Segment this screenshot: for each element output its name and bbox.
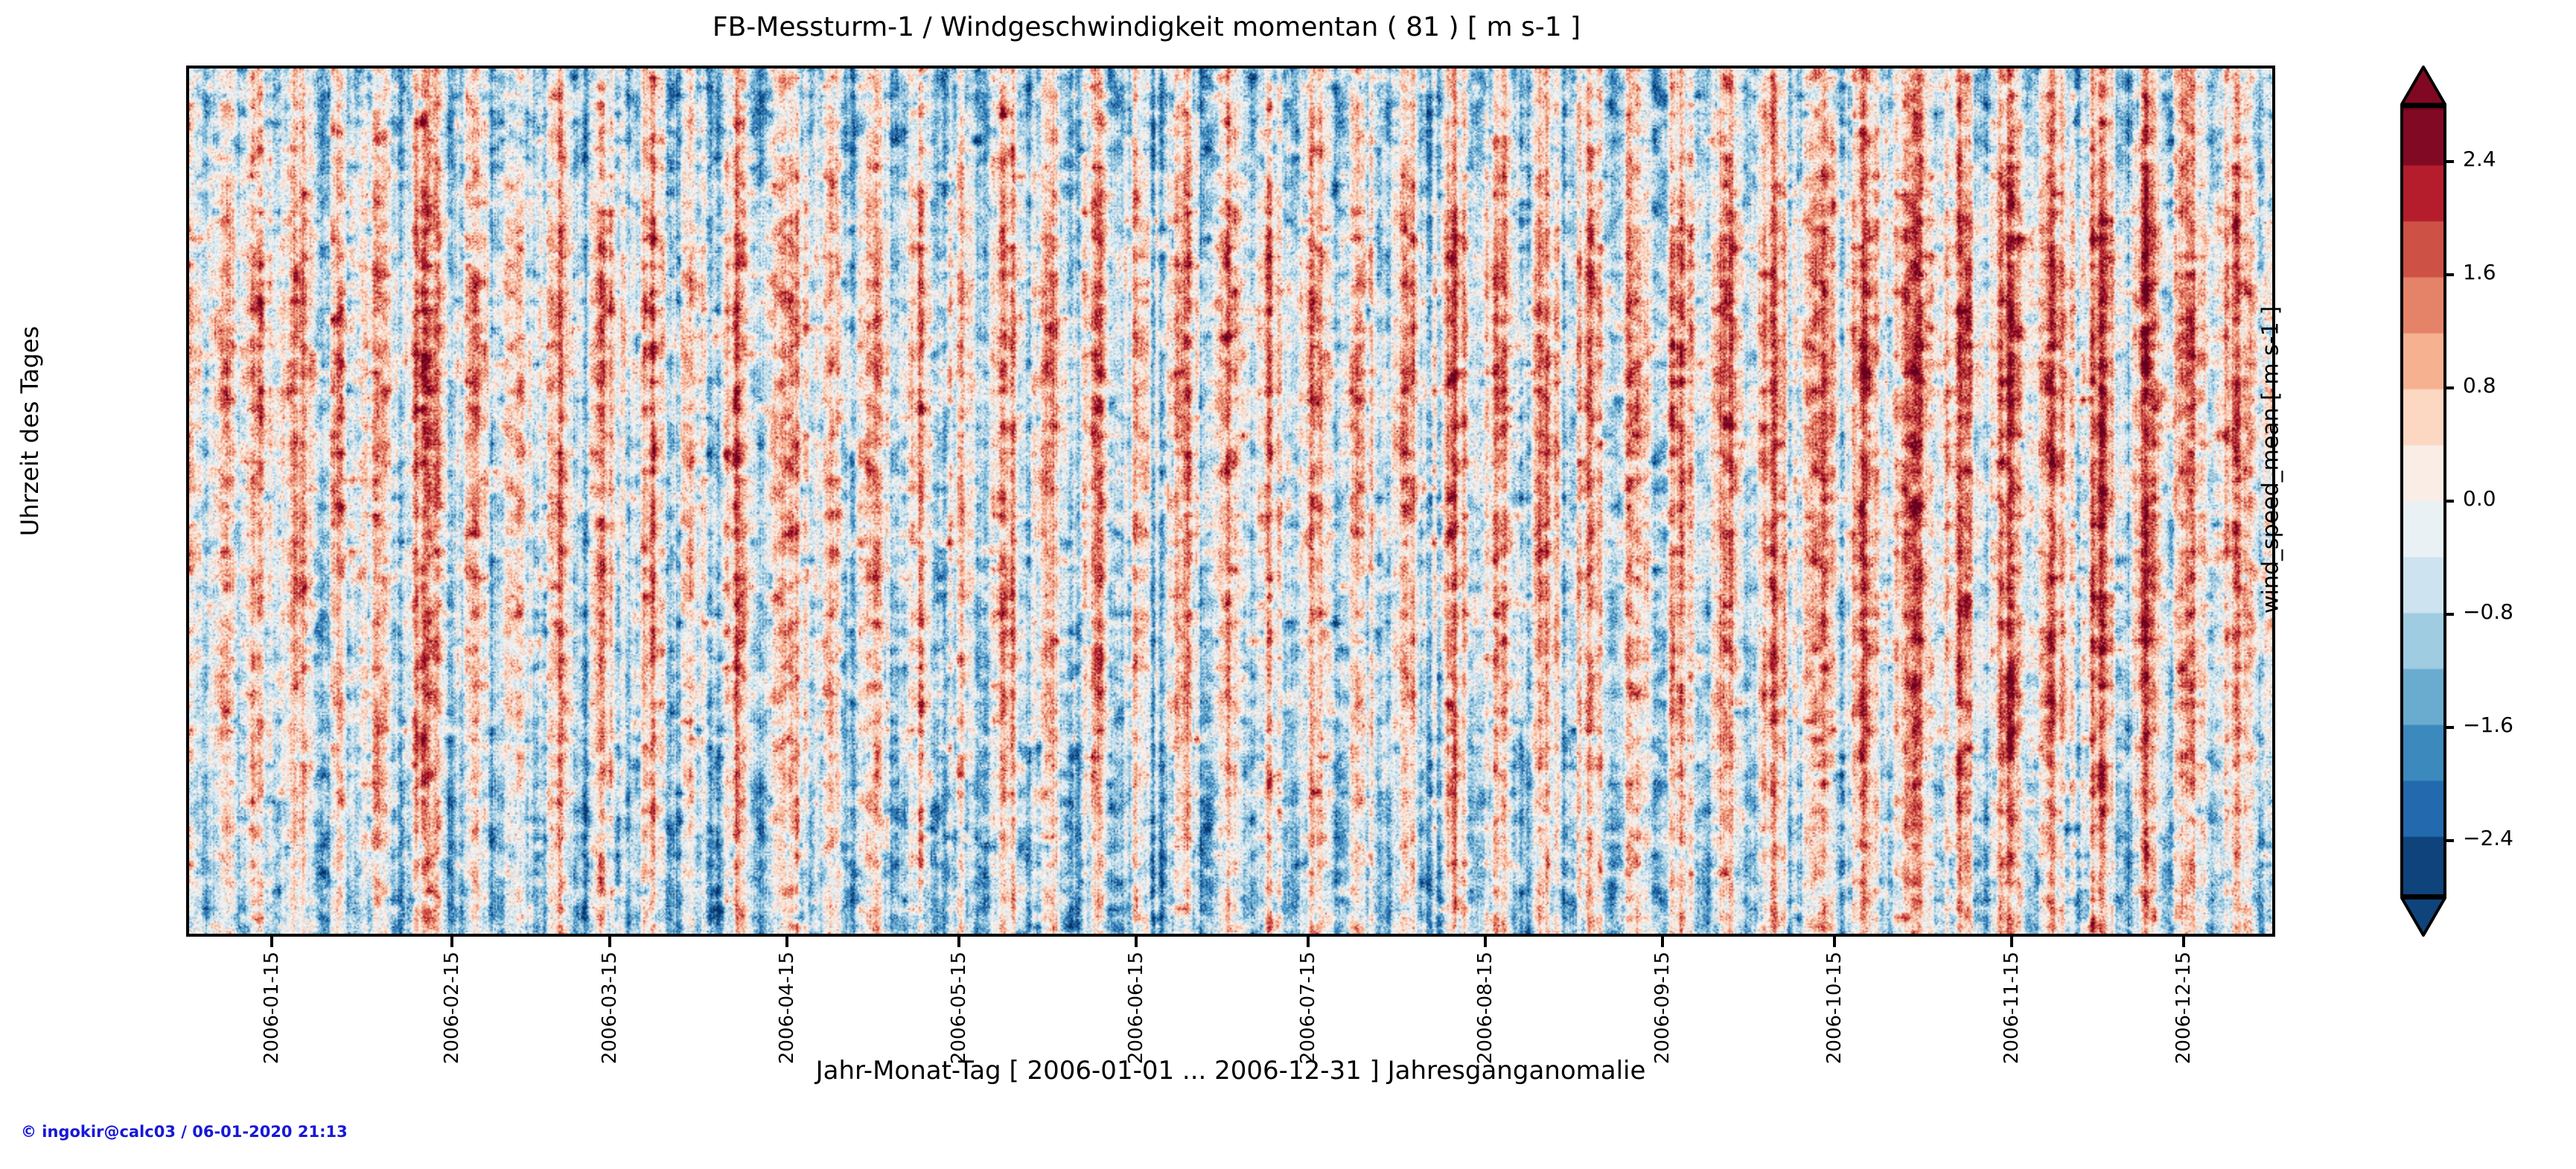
y-axis-label: Uhrzeit des Tages xyxy=(16,267,44,595)
colorbar[interactable]: 2.41.60.80.0−0.8−1.6−2.4 xyxy=(2400,66,2446,937)
x-tick-label: 2006-05-15 xyxy=(948,952,970,1064)
x-tick-label: 2006-08-15 xyxy=(1474,952,1496,1064)
colorbar-tick-mark xyxy=(2443,500,2454,503)
x-tick-mark xyxy=(270,937,273,947)
x-tick-label: 2006-10-15 xyxy=(1823,952,1846,1064)
colorbar-gradient-bar xyxy=(2400,105,2446,897)
x-tick-mark xyxy=(1661,937,1664,947)
x-tick-label: 2006-04-15 xyxy=(776,952,798,1064)
x-tick-mark xyxy=(2182,937,2185,947)
x-tick-label: 2006-09-15 xyxy=(1651,952,1674,1064)
colorbar-label: wind_speed_mean [ m s-1 ] xyxy=(2258,252,2284,669)
x-tick-mark xyxy=(1135,937,1138,947)
x-tick-mark xyxy=(785,937,788,947)
figure-canvas: FB-Messturm-1 / Windgeschwindigkeit mome… xyxy=(0,0,2576,1169)
x-tick-label: 2006-07-15 xyxy=(1297,952,1319,1064)
colorbar-tick-label: −0.8 xyxy=(2463,599,2513,624)
watermark-credit: © ingokir@calc03 / 06-01-2020 21:13 xyxy=(21,1123,348,1141)
page-title: FB-Messturm-1 / Windgeschwindigkeit mome… xyxy=(0,12,2293,42)
colorbar-tick-label: 0.0 xyxy=(2463,486,2496,511)
x-tick-mark xyxy=(450,937,453,947)
colorbar-tick-label: 0.8 xyxy=(2463,373,2496,398)
colorbar-tick-label: −2.4 xyxy=(2463,826,2513,850)
x-tick-label: 2006-06-15 xyxy=(1125,952,1147,1064)
colorbar-tick-mark xyxy=(2443,613,2454,616)
x-tick-label: 2006-03-15 xyxy=(599,952,621,1064)
x-tick-mark xyxy=(957,937,960,947)
colorbar-gradient-canvas xyxy=(2403,108,2443,894)
x-tick-label: 2006-02-15 xyxy=(441,952,463,1064)
colorbar-tick-mark xyxy=(2443,160,2454,163)
x-tick-label: 2006-11-15 xyxy=(2000,952,2023,1064)
x-tick-mark xyxy=(2010,937,2013,947)
x-tick-mark xyxy=(1484,937,1487,947)
x-tick-label: 2006-01-15 xyxy=(261,952,283,1064)
colorbar-extend-min-arrow-icon xyxy=(2400,896,2446,937)
x-tick-mark xyxy=(1307,937,1310,947)
x-tick-mark xyxy=(608,937,611,947)
heatmap-image xyxy=(189,69,2272,934)
colorbar-extend-max-arrow-icon xyxy=(2400,66,2446,106)
x-tick-mark xyxy=(1833,937,1836,947)
colorbar-tick-mark xyxy=(2443,386,2454,389)
colorbar-tick-mark xyxy=(2443,273,2454,276)
x-tick-label: 2006-12-15 xyxy=(2172,952,2195,1064)
colorbar-tick-label: 1.6 xyxy=(2463,260,2496,284)
colorbar-tick-mark xyxy=(2443,839,2454,842)
colorbar-tick-mark xyxy=(2443,726,2454,729)
colorbar-tick-label: 2.4 xyxy=(2463,147,2496,171)
heatmap-plot-area[interactable] xyxy=(186,66,2275,937)
colorbar-tick-label: −1.6 xyxy=(2463,713,2513,737)
x-axis-label: Jahr-Monat-Tag [ 2006-01-01 ... 2006-12-… xyxy=(186,1056,2275,1086)
